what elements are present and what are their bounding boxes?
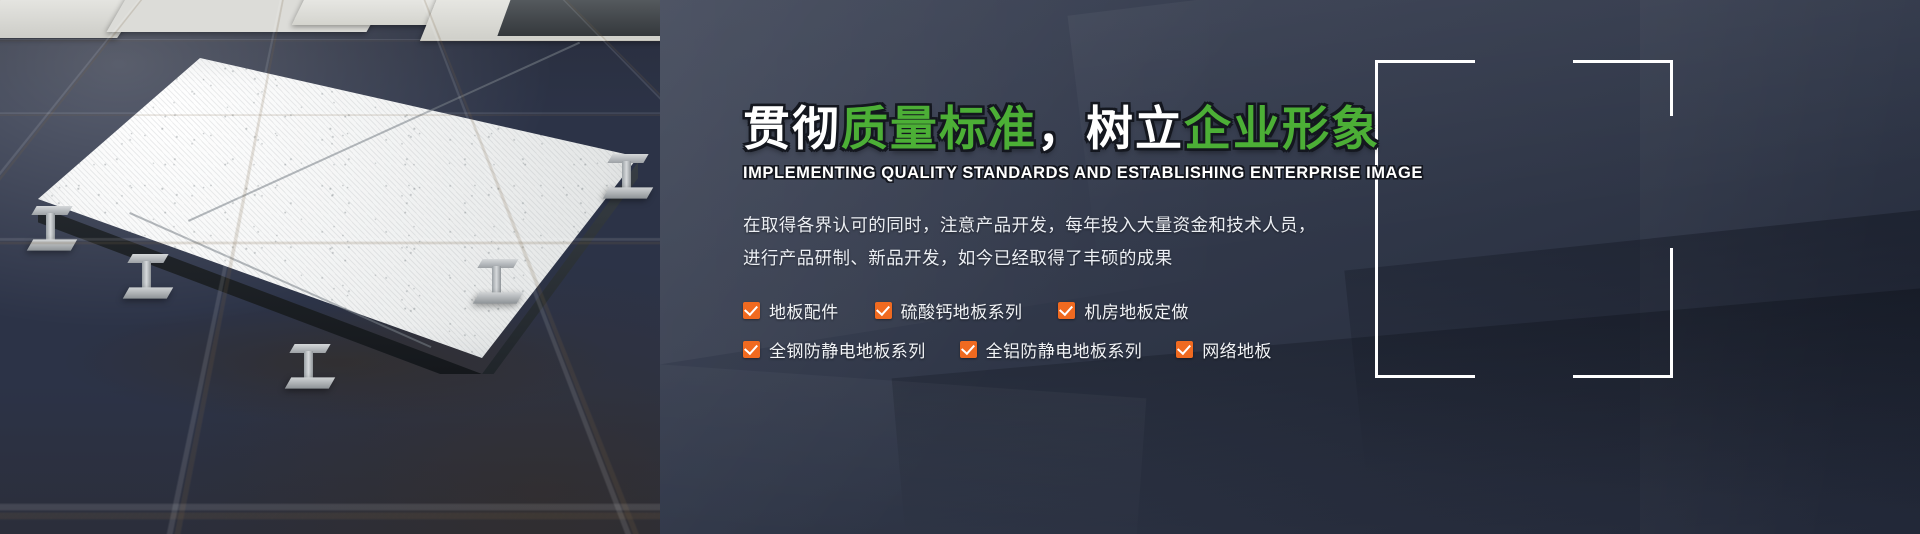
headline-part-2-accent: 质量标准 xyxy=(841,102,1037,155)
check-icon xyxy=(875,302,892,319)
feature-tag-computer-room-custom[interactable]: 机房地板定做 xyxy=(1058,298,1188,323)
message-panel: 贯彻质量标准，树立企业形象 IMPLEMENTING QUALITY STAND… xyxy=(660,0,1920,534)
feature-tag-list: 地板配件 硫酸钙地板系列 机房地板定做 全钢防静电地板系列 xyxy=(743,298,1843,362)
pedestal-base xyxy=(123,287,173,298)
description-block: 在取得各界认可的同时，注意产品开发，每年投入大量资金和技术人员， 进行产品研制、… xyxy=(743,209,1843,276)
pedestal-stem xyxy=(492,266,501,294)
feature-tag-label: 全铝防静电地板系列 xyxy=(986,337,1143,362)
pedestal-stem xyxy=(622,161,631,189)
banner-stage: 贯彻质量标准，树立企业形象 IMPLEMENTING QUALITY STAND… xyxy=(0,0,1920,534)
headline-part-3: ，树立 xyxy=(1037,102,1184,155)
feature-tag-label: 网络地板 xyxy=(1202,337,1272,362)
headline-part-4-accent: 企业形象 xyxy=(1184,102,1380,155)
check-icon xyxy=(960,341,977,358)
feature-tag-label: 机房地板定做 xyxy=(1084,298,1188,323)
background-panel-edge xyxy=(497,0,660,36)
pedestal-stem xyxy=(304,351,313,379)
feature-tag-label: 硫酸钙地板系列 xyxy=(901,298,1023,323)
feature-tag-row-2: 全钢防静电地板系列 全铝防静电地板系列 网络地板 xyxy=(743,337,1843,362)
description-line-1: 在取得各界认可的同时，注意产品开发，每年投入大量资金和技术人员， xyxy=(743,209,1843,243)
feature-tag-label: 地板配件 xyxy=(769,298,839,323)
check-icon xyxy=(743,302,760,319)
pedestal-mid-right xyxy=(478,257,518,311)
check-icon xyxy=(1058,302,1075,319)
feature-tag-network-floor[interactable]: 网络地板 xyxy=(1176,337,1272,362)
bracket-top-left-line xyxy=(1375,60,1475,63)
check-icon xyxy=(743,341,760,358)
banner-content: 贯彻质量标准，树立企业形象 IMPLEMENTING QUALITY STAND… xyxy=(743,104,1843,376)
feature-tag-floor-accessories[interactable]: 地板配件 xyxy=(743,298,839,323)
pedestal-base xyxy=(473,292,523,303)
pedestal-base xyxy=(285,377,335,388)
pedestal-front xyxy=(290,342,330,396)
headline: 贯彻质量标准，树立企业形象 xyxy=(743,104,1843,155)
headline-part-1: 贯彻 xyxy=(743,102,841,155)
feature-tag-label: 全钢防静电地板系列 xyxy=(769,337,926,362)
pedestal-mid-left xyxy=(128,252,168,306)
feature-tag-all-steel-antistatic-series[interactable]: 全钢防静电地板系列 xyxy=(743,337,926,362)
pedestal-left xyxy=(32,204,72,258)
product-photo xyxy=(0,0,660,534)
pedestal-right xyxy=(608,152,648,206)
feature-tag-all-aluminum-antistatic-series[interactable]: 全铝防静电地板系列 xyxy=(960,337,1143,362)
pedestal-base xyxy=(27,239,77,250)
feature-tag-row-1: 地板配件 硫酸钙地板系列 机房地板定做 xyxy=(743,298,1843,323)
pedestal-stem xyxy=(142,261,151,289)
headline-subtitle-english: IMPLEMENTING QUALITY STANDARDS AND ESTAB… xyxy=(743,164,1843,183)
pedestal-stem xyxy=(46,213,55,241)
panel-highlight-4 xyxy=(660,362,1146,534)
pedestal-base xyxy=(603,187,653,198)
raised-floor-assembly xyxy=(18,52,658,412)
description-line-2: 进行产品研制、新品开发，如今已经取得了丰硕的成果 xyxy=(743,242,1843,276)
feature-tag-calcium-sulfate-series[interactable]: 硫酸钙地板系列 xyxy=(875,298,1023,323)
check-icon xyxy=(1176,341,1193,358)
bracket-top-right-line xyxy=(1573,60,1673,63)
